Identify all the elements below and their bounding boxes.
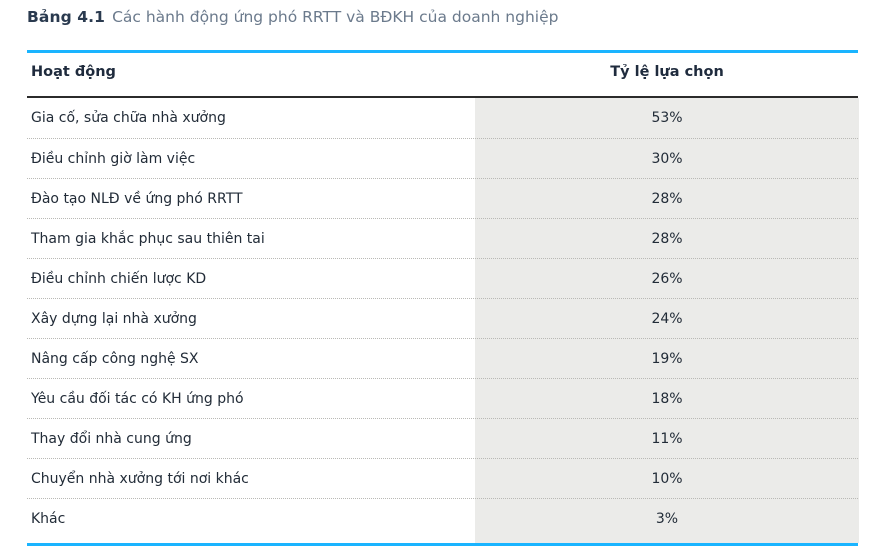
table-row: Khác3% — [27, 498, 858, 538]
table-row: Xây dựng lại nhà xưởng24% — [27, 298, 858, 338]
cell-rate: 10% — [475, 459, 859, 499]
cell-rate: 26% — [475, 259, 859, 299]
table-row: Đào tạo NLĐ về ứng phó RRTT28% — [27, 178, 858, 218]
cell-rate: 3% — [475, 499, 859, 539]
cell-activity: Thay đổi nhà cung ứng — [31, 419, 192, 459]
cell-activity: Điều chỉnh chiến lược KD — [31, 259, 206, 299]
cell-activity: Khác — [31, 499, 65, 539]
cell-rate: 28% — [475, 219, 859, 259]
bottom-blue-rule — [27, 543, 858, 546]
cell-rate: 19% — [475, 339, 859, 379]
cell-rate: 24% — [475, 299, 859, 339]
table-caption: Bảng 4.1Các hành động ứng phó RRTT và BĐ… — [27, 7, 558, 27]
table-caption-text: Các hành động ứng phó RRTT và BĐKH của d… — [112, 8, 558, 26]
table-row: Gia cố, sửa chữa nhà xưởng53% — [27, 98, 858, 138]
cell-rate: 28% — [475, 179, 859, 219]
cell-activity: Nâng cấp công nghệ SX — [31, 339, 199, 379]
table-row: Tham gia khắc phục sau thiên tai28% — [27, 218, 858, 258]
table-number-label: Bảng 4.1 — [27, 8, 105, 26]
column-header-rate: Tỷ lệ lựa chọn — [475, 64, 859, 80]
cell-activity: Gia cố, sửa chữa nhà xưởng — [31, 98, 226, 138]
cell-activity: Yêu cầu đối tác có KH ứng phó — [31, 379, 244, 419]
cell-rate: 30% — [475, 139, 859, 179]
cell-rate: 53% — [475, 98, 859, 138]
cell-activity: Tham gia khắc phục sau thiên tai — [31, 219, 265, 259]
cell-activity: Xây dựng lại nhà xưởng — [31, 299, 197, 339]
table-row: Nâng cấp công nghệ SX19% — [27, 338, 858, 378]
cell-rate: 11% — [475, 419, 859, 459]
column-header-activity: Hoạt động — [31, 64, 116, 80]
table-row: Điều chỉnh giờ làm việc30% — [27, 138, 858, 178]
cell-rate: 18% — [475, 379, 859, 419]
top-blue-rule — [27, 50, 858, 53]
table-header-row: Hoạt động Tỷ lệ lựa chọn — [27, 64, 858, 94]
table-row: Điều chỉnh chiến lược KD26% — [27, 258, 858, 298]
cell-activity: Chuyển nhà xưởng tới nơi khác — [31, 459, 249, 499]
cell-activity: Đào tạo NLĐ về ứng phó RRTT — [31, 179, 243, 219]
table-body: Gia cố, sửa chữa nhà xưởng53%Điều chỉnh … — [27, 98, 858, 538]
cell-activity: Điều chỉnh giờ làm việc — [31, 139, 195, 179]
table-row: Thay đổi nhà cung ứng11% — [27, 418, 858, 458]
table-row: Chuyển nhà xưởng tới nơi khác10% — [27, 458, 858, 498]
table-row: Yêu cầu đối tác có KH ứng phó18% — [27, 378, 858, 418]
